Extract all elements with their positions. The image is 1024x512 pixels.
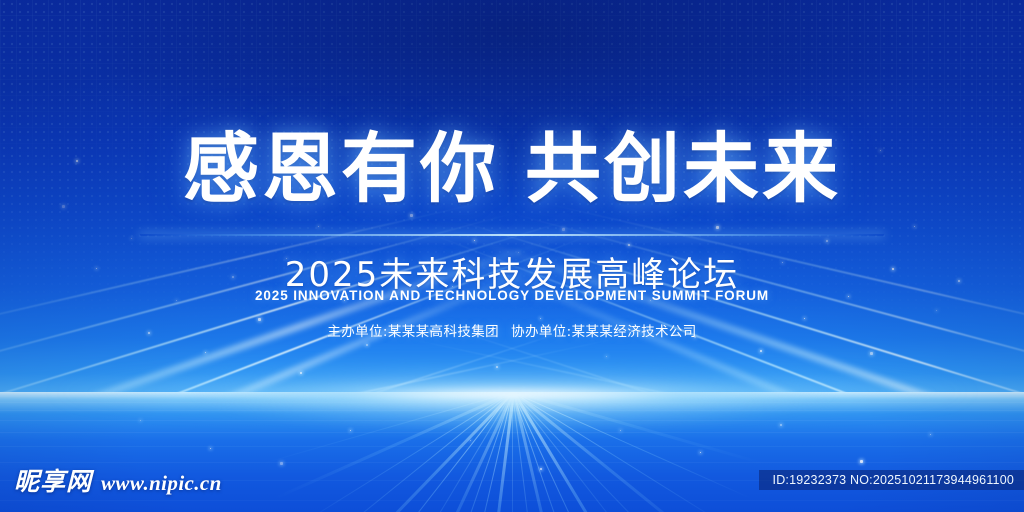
watermark-url-text: www.nipic.cn bbox=[101, 471, 222, 496]
poster-canvas: 感恩有你共创未来 2025未来科技发展高峰论坛 2025 INNOVATION … bbox=[0, 0, 1024, 512]
image-id-strip: ID:19232373 NO:20251021173944961100 bbox=[759, 470, 1024, 490]
watermark-logo-text: 昵享网 bbox=[14, 462, 92, 498]
watermark: 昵享网 www.nipic.cn bbox=[14, 462, 222, 498]
background-fine-grid-texture bbox=[0, 0, 1024, 200]
